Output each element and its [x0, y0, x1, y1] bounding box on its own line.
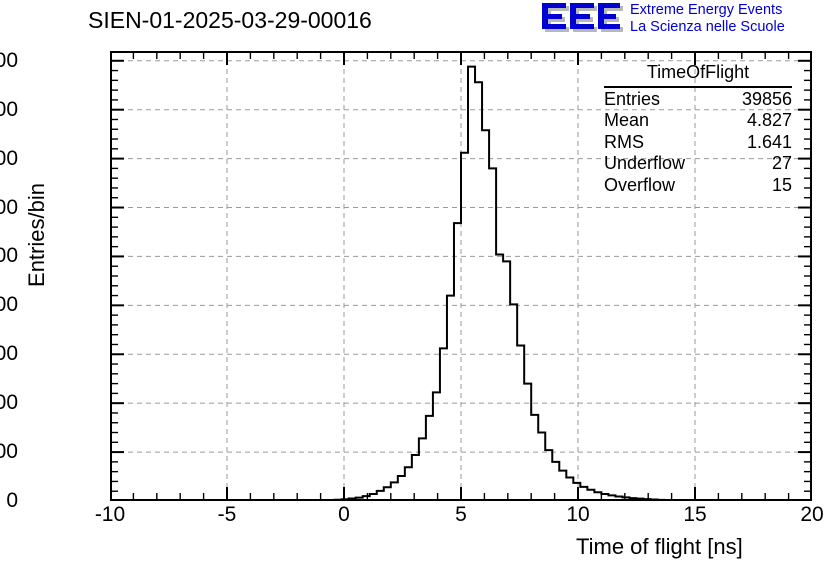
- stats-row: Mean4.827: [604, 110, 792, 132]
- page-title: SIEN-01-2025-03-29-00016: [88, 6, 372, 34]
- stats-row-label: Underflow: [604, 153, 685, 175]
- stats-row-label: RMS: [604, 132, 644, 154]
- y-tick-label: 3500: [0, 148, 18, 169]
- stats-rows: Entries39856Mean4.827RMS1.641Underflow27…: [604, 89, 792, 197]
- logo-text: Extreme Energy Events La Scienza nelle S…: [630, 2, 785, 36]
- y-tick-label: 1500: [0, 343, 18, 364]
- y-tick-label: 4500: [0, 50, 18, 71]
- y-tick-label: 3000: [0, 197, 18, 218]
- stats-row-label: Mean: [604, 110, 649, 132]
- eee-logo: Extreme Energy Events La Scienza nelle S…: [540, 2, 834, 38]
- canvas: SIEN-01-2025-03-29-00016: [0, 0, 836, 572]
- x-tick-label: 0: [314, 504, 374, 525]
- eee-logo-mark: [540, 2, 624, 36]
- x-tick-label: 10: [548, 504, 608, 525]
- y-tick-label: 4000: [0, 99, 18, 120]
- stats-row: Entries39856: [604, 89, 792, 111]
- stats-row-value: 4.827: [747, 110, 792, 132]
- stats-row-value: 1.641: [747, 132, 792, 154]
- x-tick-label: 20: [782, 504, 836, 525]
- x-axis-title: Time of flight [ns]: [576, 534, 743, 560]
- stats-row: Underflow27: [604, 153, 792, 175]
- stats-row-label: Overflow: [604, 175, 675, 197]
- stats-row: RMS1.641: [604, 132, 792, 154]
- logo-text-line2: La Scienza nelle Scuole: [630, 19, 785, 36]
- stats-box: TimeOfFlight Entries39856Mean4.827RMS1.6…: [604, 62, 792, 196]
- stats-row-value: 39856: [742, 89, 792, 111]
- y-axis-title: Entries/bin: [24, 115, 50, 355]
- stats-row-value: 15: [772, 175, 792, 197]
- y-tick-label: 2000: [0, 294, 18, 315]
- stats-row-value: 27: [772, 153, 792, 175]
- stats-title: TimeOfFlight: [604, 62, 792, 85]
- x-tick-label: -5: [197, 504, 257, 525]
- stats-row-label: Entries: [604, 89, 660, 111]
- logo-text-line1: Extreme Energy Events: [630, 2, 785, 19]
- x-tick-label: 15: [665, 504, 725, 525]
- y-tick-label: 2500: [0, 245, 18, 266]
- stats-row: Overflow15: [604, 175, 792, 197]
- x-tick-label: 5: [431, 504, 491, 525]
- stats-divider: [604, 86, 792, 88]
- y-tick-label: 0: [6, 490, 18, 511]
- y-tick-label: 1000: [0, 392, 18, 413]
- x-tick-label: -10: [80, 504, 140, 525]
- y-tick-label: 500: [0, 441, 18, 462]
